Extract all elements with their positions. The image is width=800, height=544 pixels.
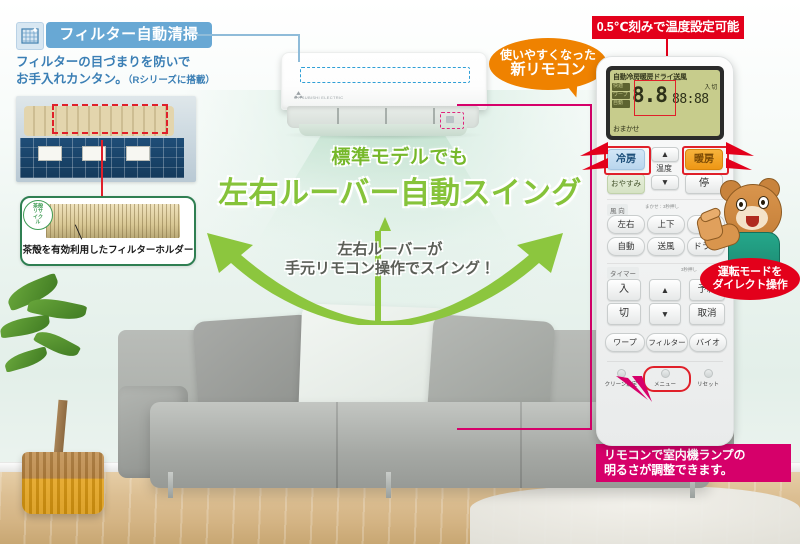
sleep-button[interactable]: おやすみ xyxy=(607,174,645,194)
lamp-link-frame xyxy=(457,104,592,430)
new-remote-bubble-tail xyxy=(565,81,581,99)
timer-up-button[interactable]: ▲ xyxy=(649,279,681,301)
ac-indoor-unit: MITSUBISHI ELECTRIC xyxy=(281,52,485,132)
cool-button-highlight xyxy=(604,146,651,175)
temperature-step-callout: 0.5℃刻みで温度設定可能 xyxy=(592,16,744,39)
lcd-chip-1: ワープ xyxy=(612,92,630,100)
filter-holder-caption: 茶殻を有効利用したフィルターホルダー xyxy=(22,242,194,256)
filter-drum-highlight-box xyxy=(52,104,168,134)
lcd-clock: 88:88 xyxy=(672,92,709,107)
bear-mascot xyxy=(700,176,788,268)
temp-down-button[interactable]: ▼ xyxy=(651,175,679,190)
left-right-louver-dashed-box xyxy=(300,67,470,83)
lamp-brightness-line1: リモコンで室内機ランプの xyxy=(604,448,791,463)
filter-desc-line1: フィルターの目づまりを防いで xyxy=(16,54,226,71)
remote-lcd-bezel: 自動冷房暖房ドライ送風 快適 ワープ 自動 8.8 88:88 入 切 おまかせ xyxy=(606,66,724,140)
filter-grid-icon xyxy=(16,22,44,50)
reset-dot[interactable] xyxy=(704,369,713,378)
warp-button[interactable]: ワープ xyxy=(605,333,645,352)
lamp-brightness-line2: 明るさが調整できます。 xyxy=(604,463,791,478)
heat-button-highlight xyxy=(682,146,729,175)
fan-button[interactable]: 送風 xyxy=(647,237,685,256)
lcd-left-chips: 快適 ワープ 自動 xyxy=(612,83,630,109)
white-shag-rug xyxy=(470,486,800,544)
new-remote-line2: 新リモコン xyxy=(510,62,585,79)
timer-hint-text: 3秒押し xyxy=(681,267,697,273)
temperature-label: 温度 xyxy=(653,162,675,175)
tea-badge-line2: リサイクル xyxy=(33,209,43,226)
lcd-chip-2: 自動 xyxy=(612,100,630,108)
lcd-bottom-row: おまかせ xyxy=(613,124,717,134)
cancel-button[interactable]: 取消 xyxy=(689,303,725,325)
advertisement-canvas: MITSUBISHI ELECTRIC 標準モデルでも 左右ルーバー自動スイング… xyxy=(0,0,800,544)
lamp-brightness-callout: リモコンで室内機ランプの 明るさが調整できます。 xyxy=(596,444,791,482)
new-remote-line1: 使いやすくなった xyxy=(500,49,596,62)
filter-panel-title: フィルター自動清掃 xyxy=(46,22,212,48)
filter-leader-line xyxy=(196,34,300,36)
filter-button[interactable]: フィルター xyxy=(646,333,688,352)
filter-desc-line2: お手入れカンタン。 xyxy=(16,72,128,86)
red-pointer-left-top xyxy=(576,140,608,176)
filter-panel-header: フィルター自動清掃 xyxy=(16,22,212,48)
temp-up-button[interactable]: ▲ xyxy=(651,147,679,162)
filter-panel-description: フィルターの目づまりを防いで お手入れカンタン。（Rシリーズに搭載） xyxy=(16,54,226,89)
filter-leader-line-vertical xyxy=(298,34,300,62)
wind-hint-text: まかせ：3秒押し xyxy=(645,204,679,210)
lcd-chip-0: 快適 xyxy=(612,83,630,91)
tea-recycle-badge-icon: 茶殻リサイクル xyxy=(23,200,53,230)
mascot-line1: 運転モードを xyxy=(718,266,782,279)
timer-section-label: タイマー xyxy=(607,267,639,279)
timer-off-button[interactable]: 切 xyxy=(607,303,641,325)
filter-desc-note: （Rシリーズに搭載） xyxy=(128,75,215,86)
reset-label: リセット xyxy=(689,380,727,388)
ac-brand-text: MITSUBISHI ELECTRIC xyxy=(294,95,343,100)
magenta-pointer-menu xyxy=(614,374,654,408)
auto-button[interactable]: 自動 xyxy=(607,237,645,256)
ac-filter-drum-photo xyxy=(16,96,196,182)
up-down-button[interactable]: 上下 xyxy=(647,215,685,234)
red-pointer-right-top xyxy=(726,140,758,176)
left-right-button[interactable]: 左右 xyxy=(607,215,645,234)
timer-down-button[interactable]: ▼ xyxy=(649,303,681,325)
remote-lcd-screen: 自動冷房暖房ドライ送風 快適 ワープ 自動 8.8 88:88 入 切 おまかせ xyxy=(610,70,720,136)
mascot-line2: ダイレクト操作 xyxy=(713,279,788,292)
new-remote-bubble: 使いやすくなった 新リモコン xyxy=(489,38,607,90)
lcd-temperature-highlight xyxy=(634,80,676,116)
bio-button[interactable]: バイオ xyxy=(689,333,727,352)
lcd-icon-row: 入 切 xyxy=(705,82,717,91)
timer-on-button[interactable]: 入 xyxy=(607,279,641,301)
mascot-callout: 運転モードを ダイレクト操作 xyxy=(700,258,800,300)
filter-holder-callout: 茶殻リサイクル 茶殻を有効利用したフィルターホルダー xyxy=(20,196,196,266)
